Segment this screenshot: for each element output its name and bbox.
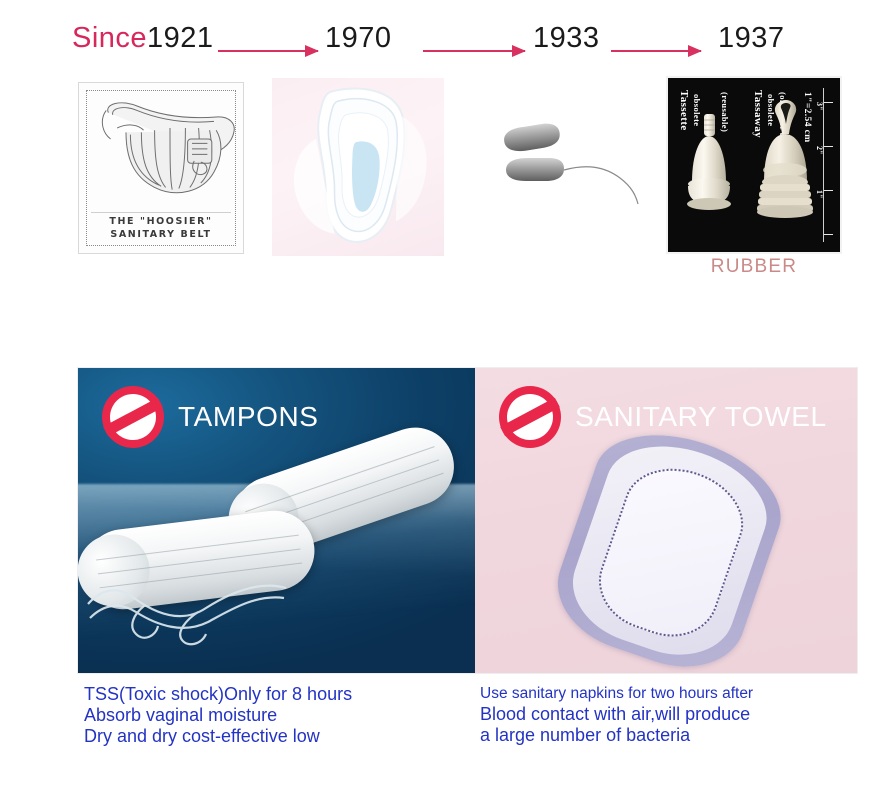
towel-caption-line-1: Use sanitary napkins for two hours after xyxy=(480,684,753,704)
cup-material-label: RUBBER xyxy=(666,256,842,278)
tampons-panel-title: TAMPONS xyxy=(178,401,319,433)
timeline-entry-1970: 1970 xyxy=(325,22,392,55)
ruler-label-3in: 3" xyxy=(815,102,824,110)
timeline-entry-1921: Since1921 xyxy=(72,22,214,55)
engraving-caption-line-2: SANITARY BELT xyxy=(79,228,243,241)
timeline-arrow-3 xyxy=(611,45,701,57)
timeline-arrow-shaft xyxy=(218,50,318,52)
timeline-year-1970: 1970 xyxy=(325,22,392,54)
timeline-year-1921: 1921 xyxy=(147,22,214,54)
towel-caption-line-2: Blood contact with air,will produce xyxy=(480,704,753,725)
timeline-arrow-head xyxy=(512,45,526,57)
history-timeline: Since1921 1970 1933 1937 xyxy=(0,0,875,80)
towel-caption: Use sanitary napkins for two hours after… xyxy=(480,684,753,746)
ruler-label-2in: 2" xyxy=(815,146,824,154)
timeline-arrow-shaft xyxy=(423,50,525,52)
towel-panel-title: SANITARY TOWEL xyxy=(575,401,827,433)
tampons-caption-line-2: Absorb vaginal moisture xyxy=(84,705,352,726)
timeline-arrow-1 xyxy=(218,45,318,57)
figure-hoosier-sanitary-belt: THE "HOOSIER" SANITARY BELT xyxy=(78,82,244,254)
tampon-withdrawal-strings xyxy=(78,564,318,656)
no-entry-icon xyxy=(102,386,164,448)
timeline-year-1937: 1937 xyxy=(718,22,785,54)
timeline-since-label: Since xyxy=(72,22,147,54)
sanitary-pad-illustration xyxy=(272,78,444,256)
engraving-caption: THE "HOOSIER" SANITARY BELT xyxy=(79,215,243,241)
timeline-entry-1937: 1937 xyxy=(718,22,785,55)
engraving-divider xyxy=(91,212,231,213)
sanitary-pad-product xyxy=(536,411,802,673)
timeline-arrow-2 xyxy=(423,45,525,57)
figure-early-tampons-1933 xyxy=(486,104,656,204)
timeline-year-1933: 1933 xyxy=(533,22,600,54)
timeline-arrow-head xyxy=(688,45,702,57)
timeline-entry-1933: 1933 xyxy=(533,22,600,55)
early-tampon-illustration xyxy=(486,104,656,204)
panel-sanitary-towel: SANITARY TOWEL xyxy=(475,368,857,673)
tampons-caption-line-3: Dry and dry cost-effective low xyxy=(84,726,352,747)
towel-panel-header: SANITARY TOWEL xyxy=(499,386,827,448)
tampons-caption: TSS(Toxic shock)Only for 8 hours Absorb … xyxy=(84,684,352,747)
sanitary-belt-illustration xyxy=(93,95,247,205)
figure-menstrual-cups-1937: Tassette obsolete (reusable) Tassaway ob… xyxy=(666,76,842,254)
figure-sanitary-pad-1970 xyxy=(272,78,444,256)
towel-caption-line-3: a large number of bacteria xyxy=(480,725,753,746)
timeline-arrow-head xyxy=(305,45,319,57)
comparison-panels: TAMPONS SANITARY TOWEL xyxy=(78,368,857,673)
no-entry-icon xyxy=(499,386,561,448)
ruler-tick xyxy=(824,190,833,191)
cup-ruler xyxy=(823,88,836,242)
tampons-panel-header: TAMPONS xyxy=(102,386,319,448)
ruler-label-1in: 1" xyxy=(815,190,824,198)
engraving-caption-line-1: THE "HOOSIER" xyxy=(79,215,243,228)
tampons-caption-line-1: TSS(Toxic shock)Only for 8 hours xyxy=(84,684,352,705)
panel-tampons: TAMPONS xyxy=(78,368,475,673)
ruler-tick xyxy=(824,102,833,103)
ruler-tick xyxy=(824,234,833,235)
tampon-ridge xyxy=(245,446,435,512)
ruler-tick xyxy=(824,146,833,147)
